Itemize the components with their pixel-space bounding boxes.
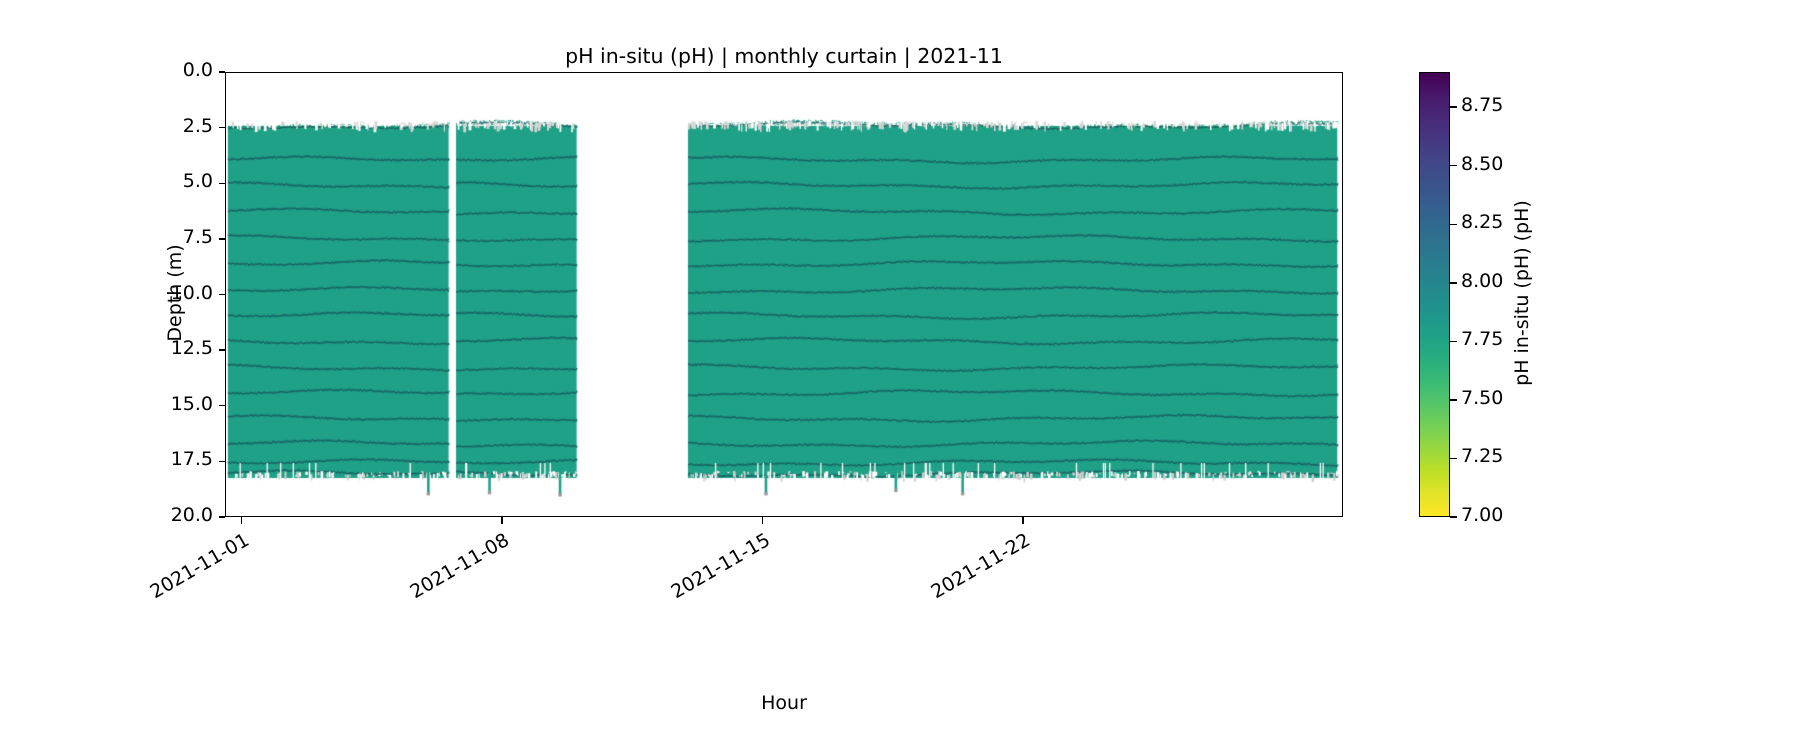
x-tick-label: 2021-11-01 (127, 529, 252, 614)
chart-title: pH in-situ (pH) | monthly curtain | 2021… (225, 44, 1343, 68)
colorbar-tick-label: 8.00 (1461, 270, 1503, 292)
plot-axes-frame (225, 72, 1343, 517)
colorbar-label: pH in-situ (pH) (pH) (1511, 163, 1533, 423)
y-tick-label: 20.0 (171, 504, 213, 526)
colorbar-tick-mark (1450, 458, 1457, 459)
colorbar-tick-label: 8.50 (1461, 153, 1503, 175)
colorbar-tick-mark (1450, 224, 1457, 225)
x-tick-mark (501, 517, 502, 524)
y-tick-mark (219, 294, 226, 295)
colorbar-tick-label: 7.75 (1461, 328, 1503, 350)
x-tick-mark (1022, 517, 1023, 524)
curtain-scatter-plot (226, 73, 1341, 515)
colorbar-tick-label: 7.00 (1461, 504, 1503, 526)
colorbar-tick-label: 8.75 (1461, 94, 1503, 116)
x-axis-label: Hour (225, 692, 1343, 714)
colorbar-tick-mark (1450, 516, 1457, 517)
y-tick-mark (219, 405, 226, 406)
x-tick-label: 2021-11-22 (909, 529, 1034, 614)
colorbar-tick-mark (1450, 165, 1457, 166)
y-tick-label: 17.5 (171, 448, 213, 470)
figure-canvas: pH in-situ (pH) | monthly curtain | 2021… (0, 0, 1800, 750)
y-tick-label: 0.0 (183, 59, 213, 81)
colorbar-tick-label: 7.50 (1461, 387, 1503, 409)
x-tick-label: 2021-11-15 (648, 529, 773, 614)
y-tick-label: 5.0 (183, 170, 213, 192)
x-tick-label: 2021-11-08 (388, 529, 513, 614)
colorbar-tick-mark (1450, 106, 1457, 107)
y-tick-mark (219, 127, 226, 128)
colorbar-tick-mark (1450, 399, 1457, 400)
colorbar-tick-label: 7.25 (1461, 445, 1503, 467)
y-tick-mark (219, 238, 226, 239)
y-tick-label: 7.5 (183, 226, 213, 248)
y-tick-mark (219, 516, 226, 517)
colorbar-tick-mark (1450, 341, 1457, 342)
y-tick-label: 15.0 (171, 393, 213, 415)
colorbar (1419, 72, 1450, 517)
colorbar-tick-label: 8.25 (1461, 211, 1503, 233)
colorbar-gradient (1420, 73, 1449, 516)
x-tick-mark (762, 517, 763, 524)
y-axis-label: Depth (m) (164, 193, 186, 393)
y-tick-mark (219, 183, 226, 184)
colorbar-tick-mark (1450, 282, 1457, 283)
y-tick-mark (219, 71, 226, 72)
y-tick-mark (219, 461, 226, 462)
x-tick-mark (241, 517, 242, 524)
y-tick-label: 2.5 (183, 115, 213, 137)
y-tick-mark (219, 349, 226, 350)
